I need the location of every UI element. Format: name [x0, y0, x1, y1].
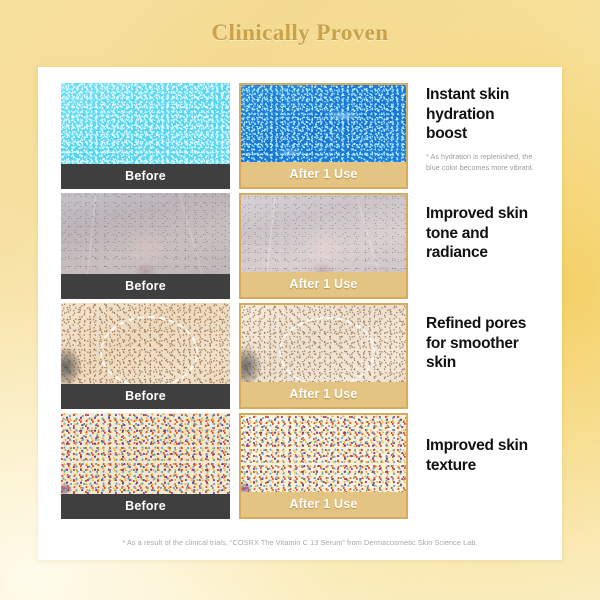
after-label: After 1 Use [241, 272, 406, 297]
benefit-heading-texture: Improved skin texture [426, 436, 539, 475]
comparison-row-skin-tone: Before After 1 Use Improved skin tone an… [61, 193, 539, 299]
dashed-ellipse-highlight [279, 317, 375, 386]
after-image-skin-tone: After 1 Use [239, 193, 408, 299]
image-pair-texture: Before After 1 Use [61, 413, 408, 519]
after-image-pores: After 1 Use [239, 303, 408, 409]
before-label: Before [61, 384, 230, 409]
benefit-heading-pores: Refined pores for smoother skin [426, 314, 539, 373]
before-image-texture: Before [61, 413, 230, 519]
image-pair-skin-tone: Before After 1 Use [61, 193, 408, 299]
benefit-heading-hydration: Instant skin hydration boost [426, 85, 539, 144]
image-pair-hydration: Before After 1 Use [61, 83, 408, 189]
after-label: After 1 Use [241, 382, 406, 407]
after-image-texture: After 1 Use [239, 413, 408, 519]
before-label: Before [61, 274, 230, 299]
after-image-hydration: After 1 Use [239, 83, 408, 189]
image-pair-pores: Before After 1 Use [61, 303, 408, 409]
benefit-heading-skin-tone: Improved skin tone and radiance [426, 204, 539, 263]
benefit-skin-tone: Improved skin tone and radiance [408, 193, 539, 263]
before-image-hydration: Before [61, 83, 230, 189]
after-label: After 1 Use [241, 492, 406, 517]
benefit-texture: Improved skin texture [408, 413, 539, 475]
comparison-rows: Before After 1 Use Instant skin hydratio… [61, 83, 539, 519]
comparison-row-pores: Before After 1 Use Refined pores for smo… [61, 303, 539, 409]
comparison-row-hydration: Before After 1 Use Instant skin hydratio… [61, 83, 539, 189]
benefit-pores: Refined pores for smoother skin [408, 303, 539, 373]
comparison-row-texture: Before After 1 Use Improved skin texture [61, 413, 539, 519]
after-label: After 1 Use [241, 162, 406, 187]
before-label: Before [61, 164, 230, 189]
page-title: Clinically Proven [0, 20, 600, 46]
before-label: Before [61, 494, 230, 519]
dashed-ellipse-highlight [100, 316, 198, 388]
results-card: Before After 1 Use Instant skin hydratio… [38, 67, 562, 560]
benefit-note-hydration: * As hydration is replenished, the blue … [426, 151, 539, 174]
before-image-skin-tone: Before [61, 193, 230, 299]
clinical-trial-disclaimer: * As a result of the clinical trials, “C… [38, 538, 562, 547]
before-image-pores: Before [61, 303, 230, 409]
benefit-hydration: Instant skin hydration boost * As hydrat… [408, 83, 539, 174]
